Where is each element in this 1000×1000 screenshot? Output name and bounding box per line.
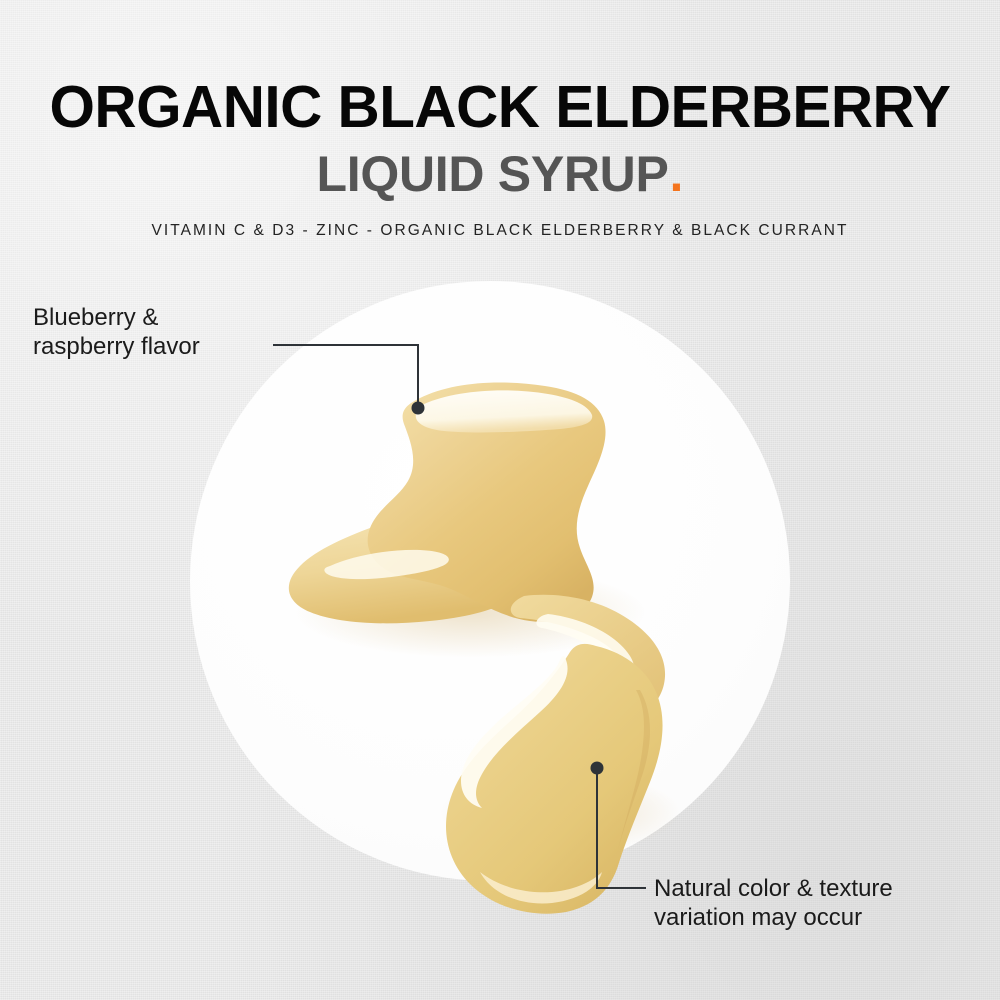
callout-flavor-line2: raspberry flavor (33, 332, 200, 361)
product-stage: Blueberry & raspberry flavor Natural col… (0, 0, 1000, 1000)
callout-flavor-line1: Blueberry & (33, 303, 200, 332)
product-infographic: ORGANIC BLACK ELDERBERRY LIQUID SYRUP. V… (0, 0, 1000, 1000)
callout-flavor: Blueberry & raspberry flavor (33, 303, 200, 362)
callout-variation-line1: Natural color & texture (654, 874, 893, 903)
white-circle-backdrop (190, 281, 790, 881)
callout-variation-line2: variation may occur (654, 903, 893, 932)
callout-variation: Natural color & texture variation may oc… (654, 874, 893, 933)
